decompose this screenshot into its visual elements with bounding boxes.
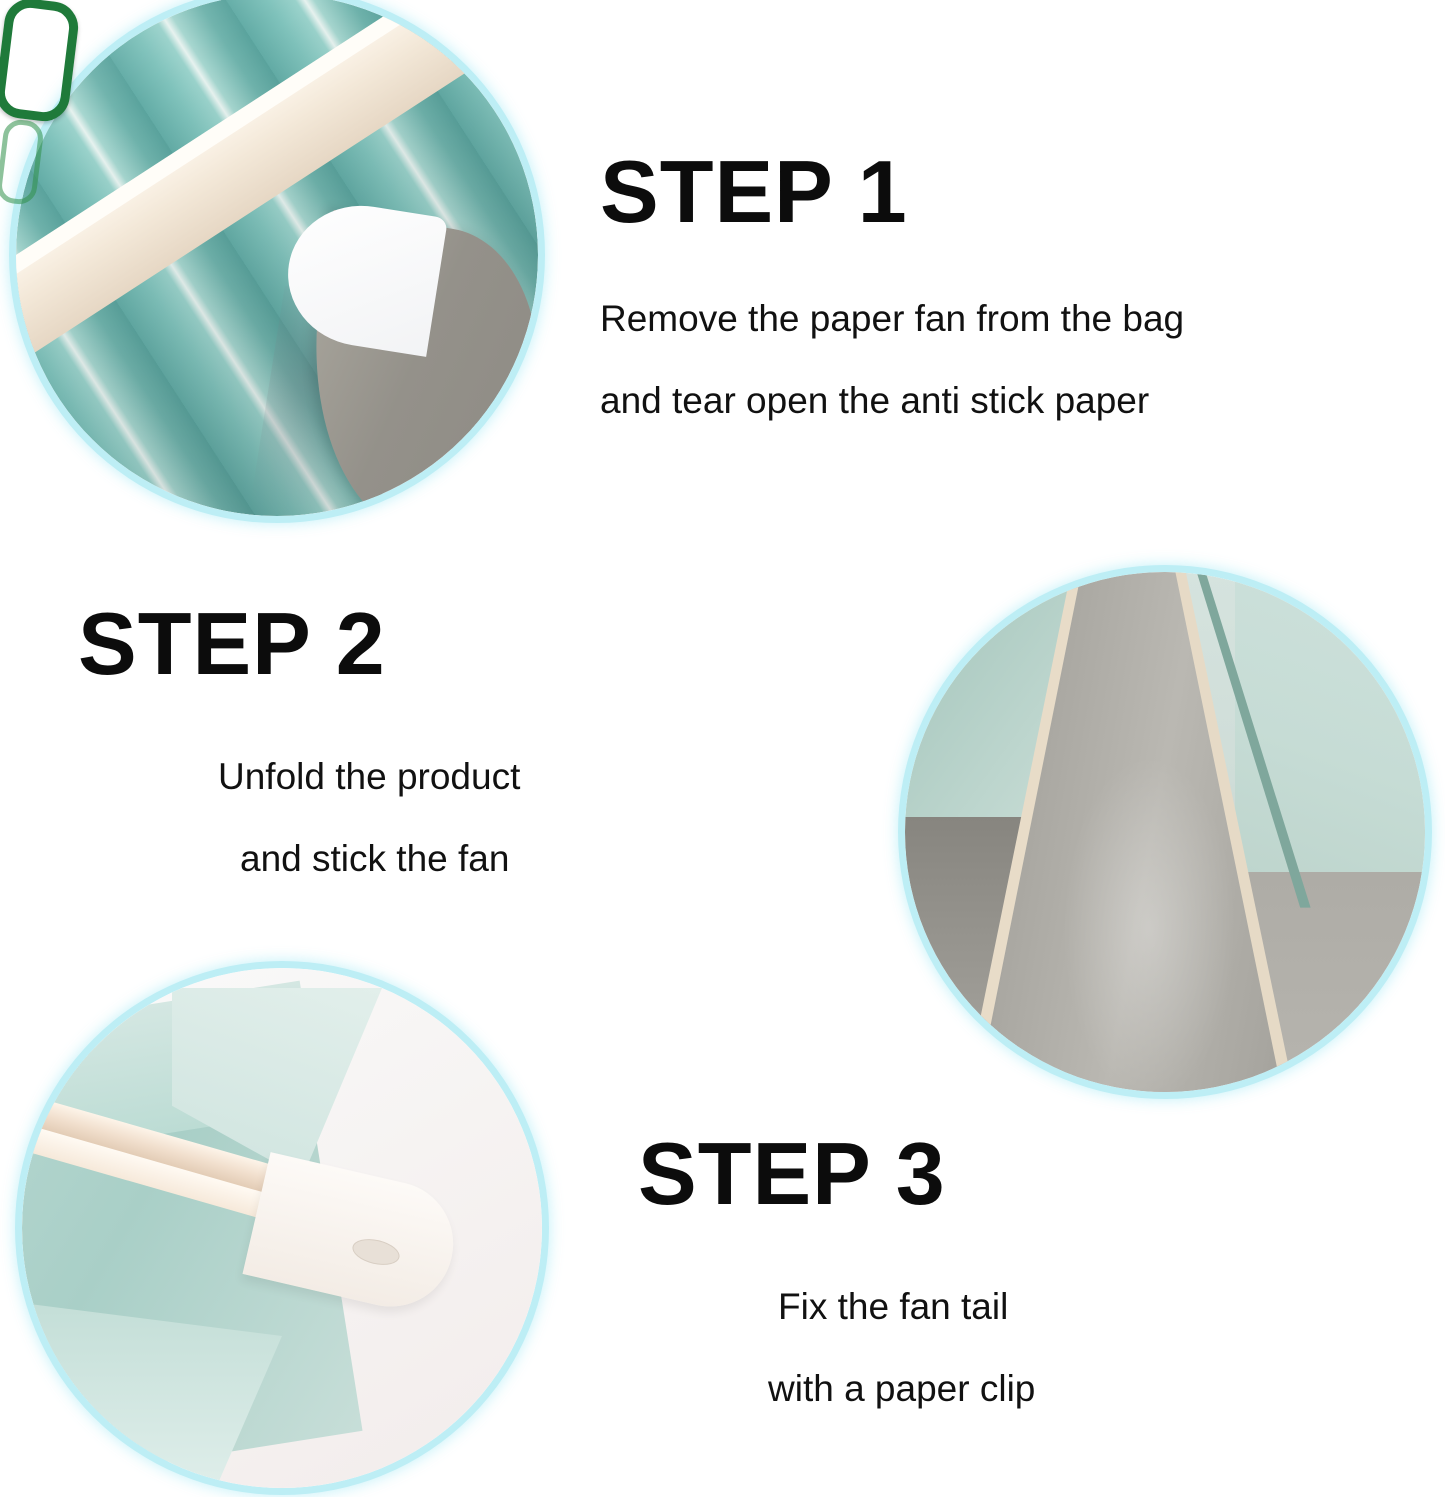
step-3-line-1: Fix the fan tail	[638, 1288, 1035, 1325]
step-1-line-2: and tear open the anti stick paper	[600, 382, 1184, 419]
photo-step-2	[905, 572, 1425, 1092]
step-3-line-2: with a paper clip	[638, 1370, 1035, 1407]
photo-step-3	[22, 968, 542, 1488]
mint-panel-right	[1235, 572, 1425, 892]
step-1-text: STEP 1 Remove the paper fan from the bag…	[600, 148, 1184, 464]
photo-step-1-inner	[16, 0, 538, 516]
step-1-line-1: Remove the paper fan from the bag	[600, 300, 1184, 337]
step-3-text: STEP 3 Fix the fan tail with a paper cli…	[638, 1130, 1035, 1452]
step-3-title: STEP 3	[638, 1130, 1035, 1218]
photo-step-2-inner	[905, 572, 1425, 1092]
step-2-text: STEP 2 Unfold the product and stick the …	[78, 600, 520, 922]
step-2-line-2: and stick the fan	[78, 840, 520, 877]
step-2-title: STEP 2	[78, 600, 520, 688]
photo-step-3-inner	[22, 968, 542, 1488]
instruction-graphic: STEP 1 Remove the paper fan from the bag…	[0, 0, 1445, 1497]
step-2-line-1: Unfold the product	[78, 758, 520, 795]
step-1-title: STEP 1	[600, 148, 1184, 236]
photo-step-1	[16, 0, 538, 516]
